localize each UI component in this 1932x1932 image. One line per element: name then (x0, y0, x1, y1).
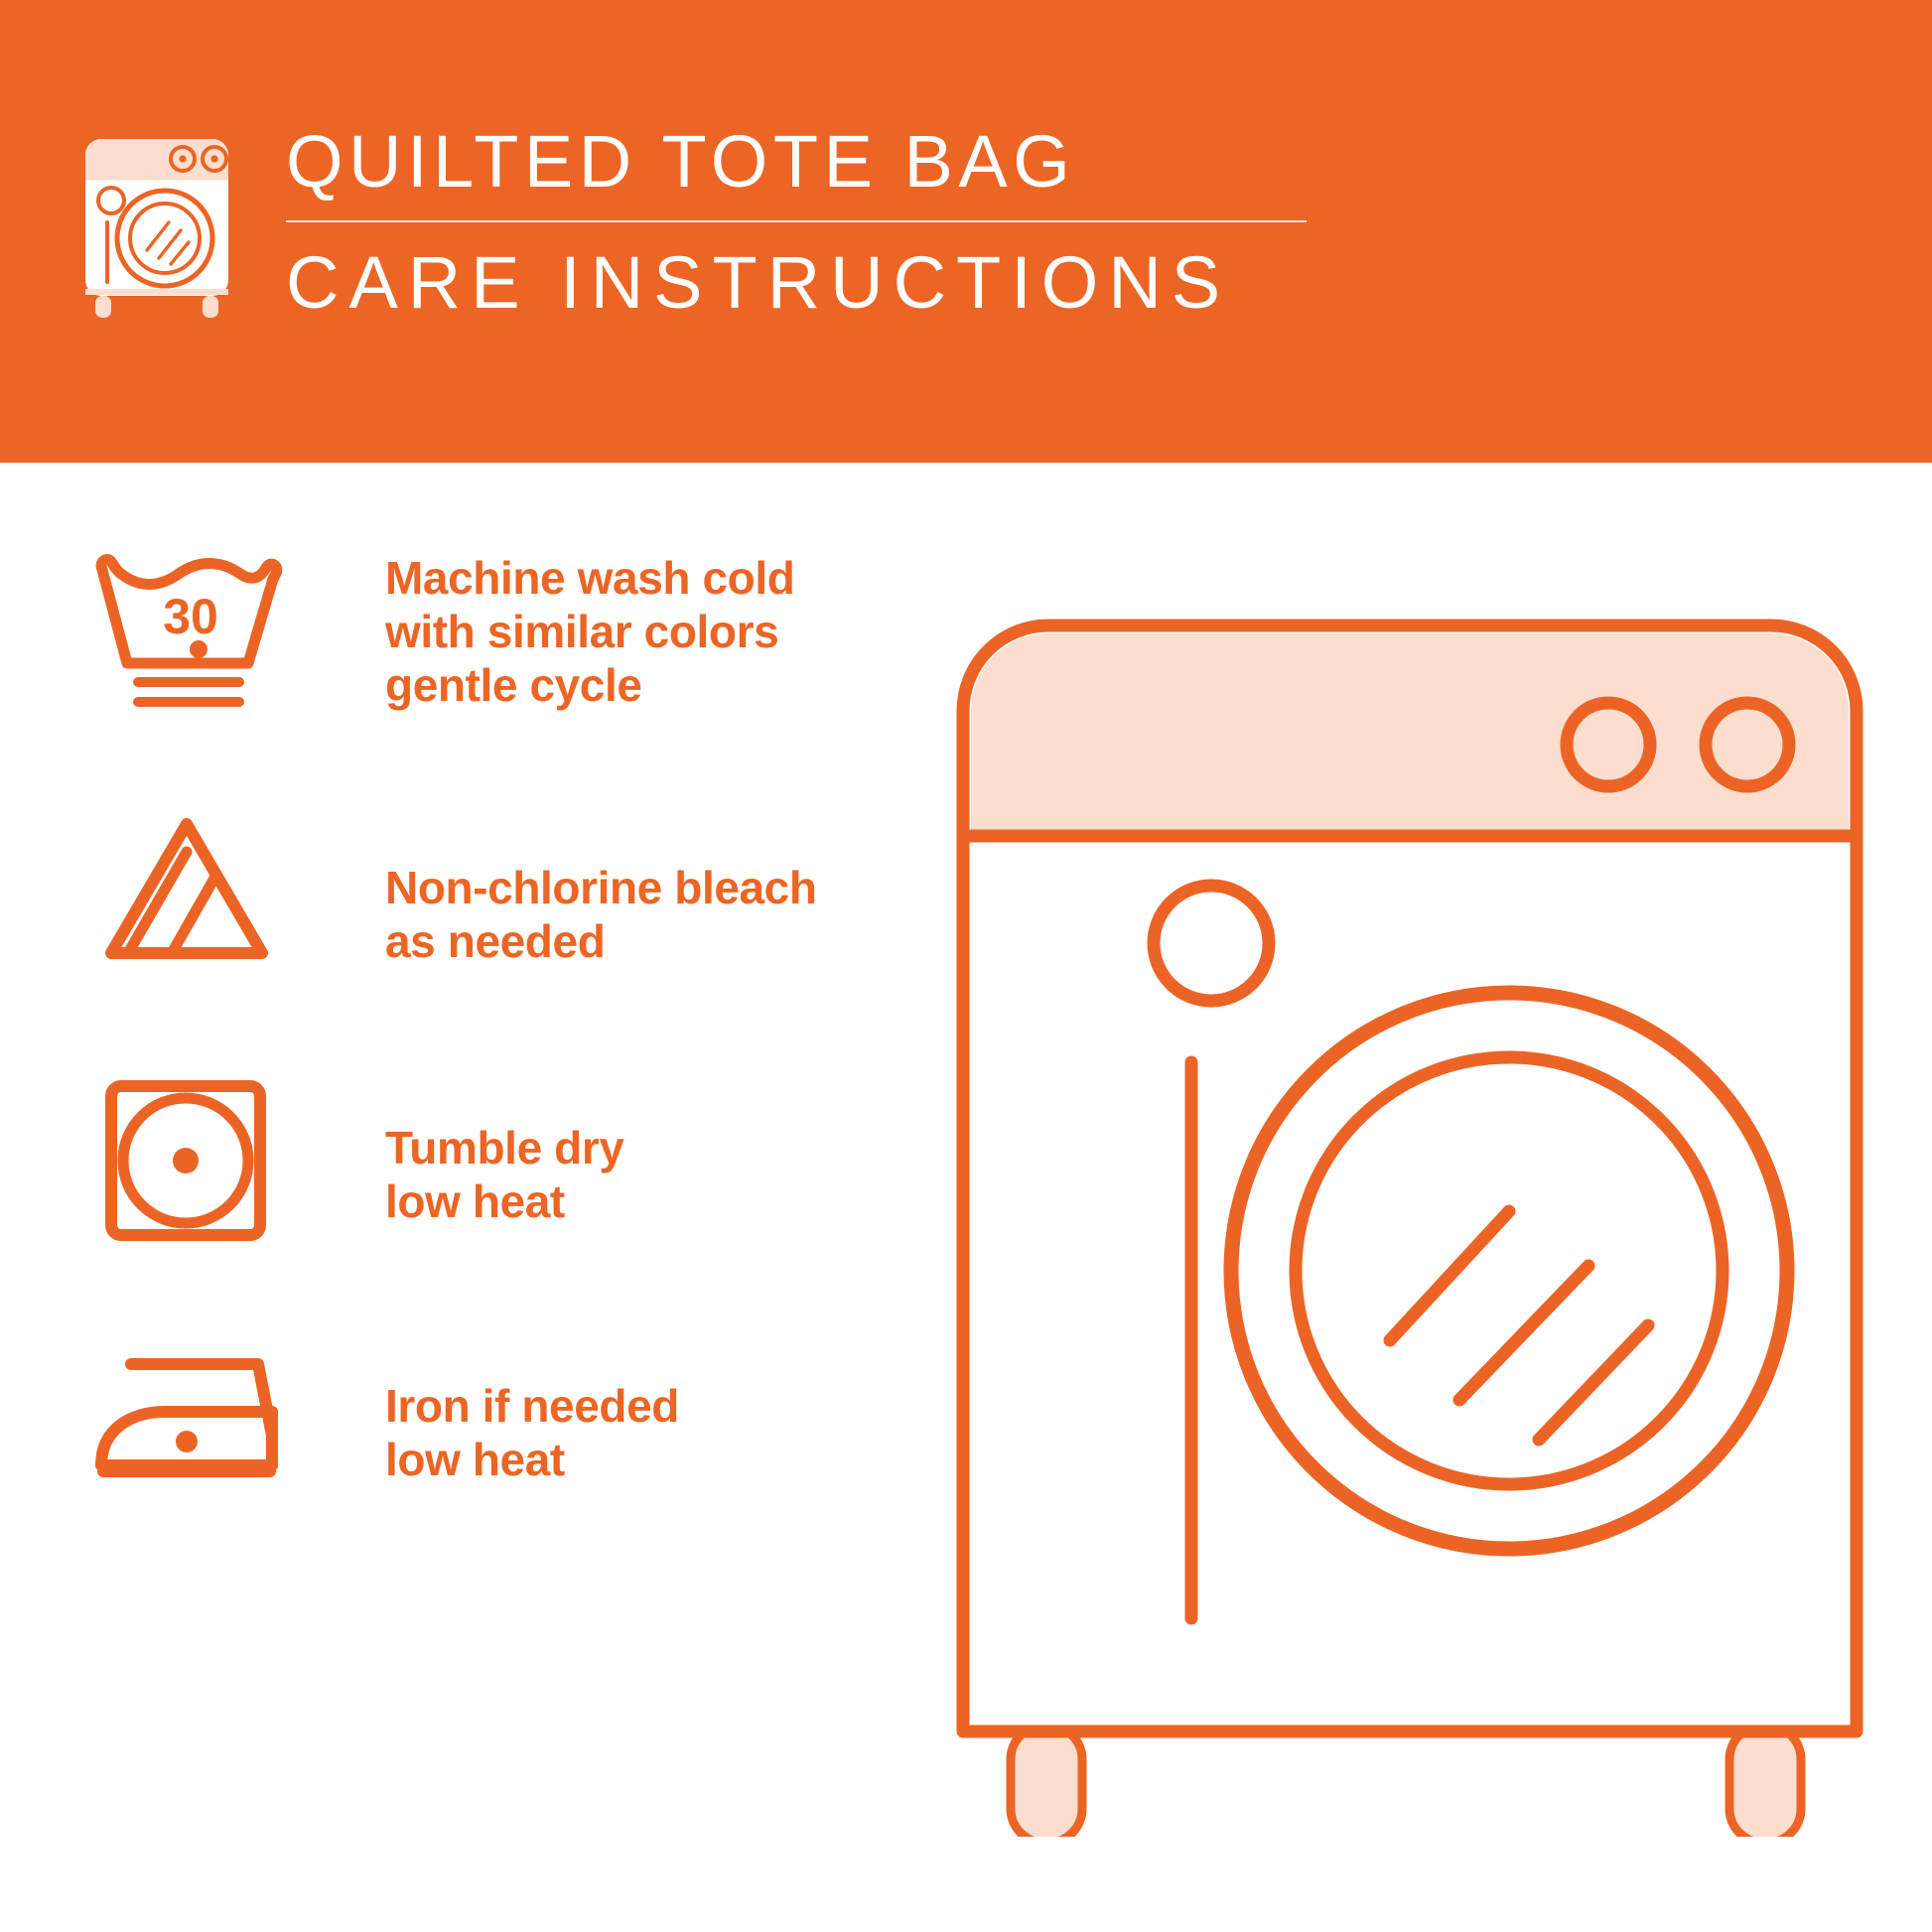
care-instruction-list: 30 Machine wash cold with similar colors… (0, 463, 894, 1932)
care-label-iron: Iron if needed low heat (385, 1380, 679, 1487)
care-row-iron: Iron if needed low heat (0, 1316, 894, 1555)
washing-machine-icon (77, 131, 236, 320)
bleach-triangle-icon (87, 800, 286, 999)
page-subtitle: CARE INSTRUCTIONS (286, 246, 1328, 320)
care-label-tumble-dry: Tumble dry low heat (385, 1122, 624, 1229)
header-text-block: QUILTED TOTE BAG CARE INSTRUCTIONS (286, 125, 1328, 320)
iron-icon (87, 1316, 286, 1515)
header-banner: QUILTED TOTE BAG CARE INSTRUCTIONS (0, 0, 1932, 463)
care-row-tumble-dry: Tumble dry low heat (0, 1058, 894, 1297)
page-title: QUILTED TOTE BAG (286, 125, 1328, 199)
washing-machine-illustration (953, 616, 1866, 1837)
care-instructions-page: QUILTED TOTE BAG CARE INSTRUCTIONS 30 (0, 0, 1932, 1932)
title-divider (286, 220, 1307, 222)
care-label-machine-wash: Machine wash cold with similar colors ge… (385, 552, 794, 712)
care-label-bleach: Non-chlorine bleach as needed (385, 862, 817, 969)
tumble-dry-icon (87, 1058, 286, 1257)
care-row-bleach: Non-chlorine bleach as needed (0, 800, 894, 1038)
care-row-machine-wash: 30 Machine wash cold with similar colors… (0, 522, 894, 760)
wash-tub-icon: 30 (87, 522, 286, 721)
svg-text:30: 30 (163, 589, 218, 644)
